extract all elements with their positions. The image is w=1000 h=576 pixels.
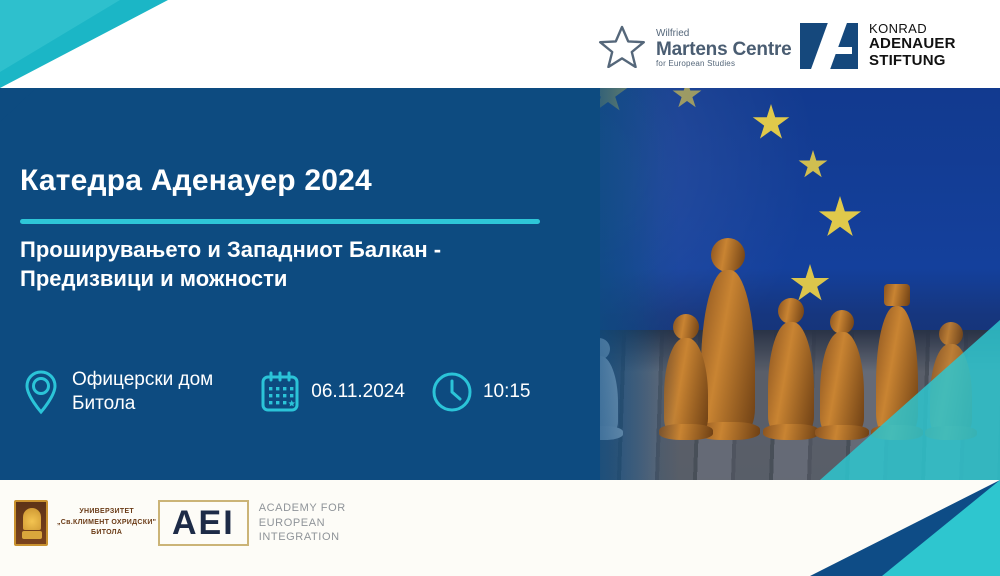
meta-location-text: Офицерски дом Битола (72, 368, 213, 416)
wmc-line-1: Wilfried (656, 29, 792, 40)
clock-icon (429, 366, 475, 418)
kas-line-1: KONRAD (869, 22, 956, 36)
logo-wilfried-martens-centre: Wilfried Martens Centre for European Stu… (598, 24, 792, 73)
title-divider (20, 219, 540, 224)
university-wordmark: УНИВЕРЗИТЕТ „Св.КЛИМЕНТ ОХРИДСКИ" БИТОЛА (57, 507, 156, 539)
header-band: Wilfried Martens Centre for European Stu… (0, 0, 1000, 88)
university-line-3: БИТОЛА (57, 528, 156, 539)
wmc-wordmark: Wilfried Martens Centre for European Stu… (656, 29, 792, 68)
logo-university-bitola: УНИВЕРЗИТЕТ „Св.КЛИМЕНТ ОХРИДСКИ" БИТОЛА (14, 500, 156, 546)
logo-aei: AEI ACADEMY FOR EUROPEAN INTEGRATION (158, 500, 346, 546)
kas-a-mark-icon (800, 23, 858, 69)
page-title: Катедра Аденауер 2024 (20, 164, 372, 198)
calendar-icon (257, 366, 303, 418)
aei-wordmark: ACADEMY FOR EUROPEAN INTEGRATION (259, 501, 346, 546)
kas-wordmark: KONRAD ADENAUER STIFTUNG (869, 22, 956, 69)
meta-item-time: 10:15 (429, 366, 531, 418)
meta-time-text: 10:15 (483, 380, 531, 404)
university-line-2: „Св.КЛИМЕНТ ОХРИДСКИ" (57, 518, 156, 529)
page-subtitle: Проширувањето и Западниот Балкан - Преди… (20, 235, 580, 293)
star-outline-icon (598, 24, 646, 73)
meta-item-location: Офицерски дом Битола (18, 366, 213, 418)
wmc-line-3: for European Studies (656, 60, 792, 68)
location-pin-icon (18, 366, 64, 418)
wmc-line-2: Martens Centre (656, 40, 792, 60)
banner: Катедра Аденауер 2024 Проширувањето и За… (0, 88, 1000, 480)
university-crest-icon (14, 500, 48, 546)
aei-mark: AEI (172, 504, 235, 542)
kas-line-2: ADENAUER (869, 36, 956, 53)
logo-konrad-adenauer-stiftung: KONRAD ADENAUER STIFTUNG (800, 22, 956, 69)
meta-date-text: 06.11.2024 (311, 380, 405, 404)
event-meta-row: Офицерски дом Битола (18, 366, 530, 418)
kas-line-3: STIFTUNG (869, 53, 956, 70)
meta-item-date: 06.11.2024 (257, 366, 405, 418)
university-line-1: УНИВЕРЗИТЕТ (57, 507, 156, 518)
event-poster: Wilfried Martens Centre for European Stu… (0, 0, 1000, 576)
aei-mark-box: AEI (158, 500, 249, 546)
